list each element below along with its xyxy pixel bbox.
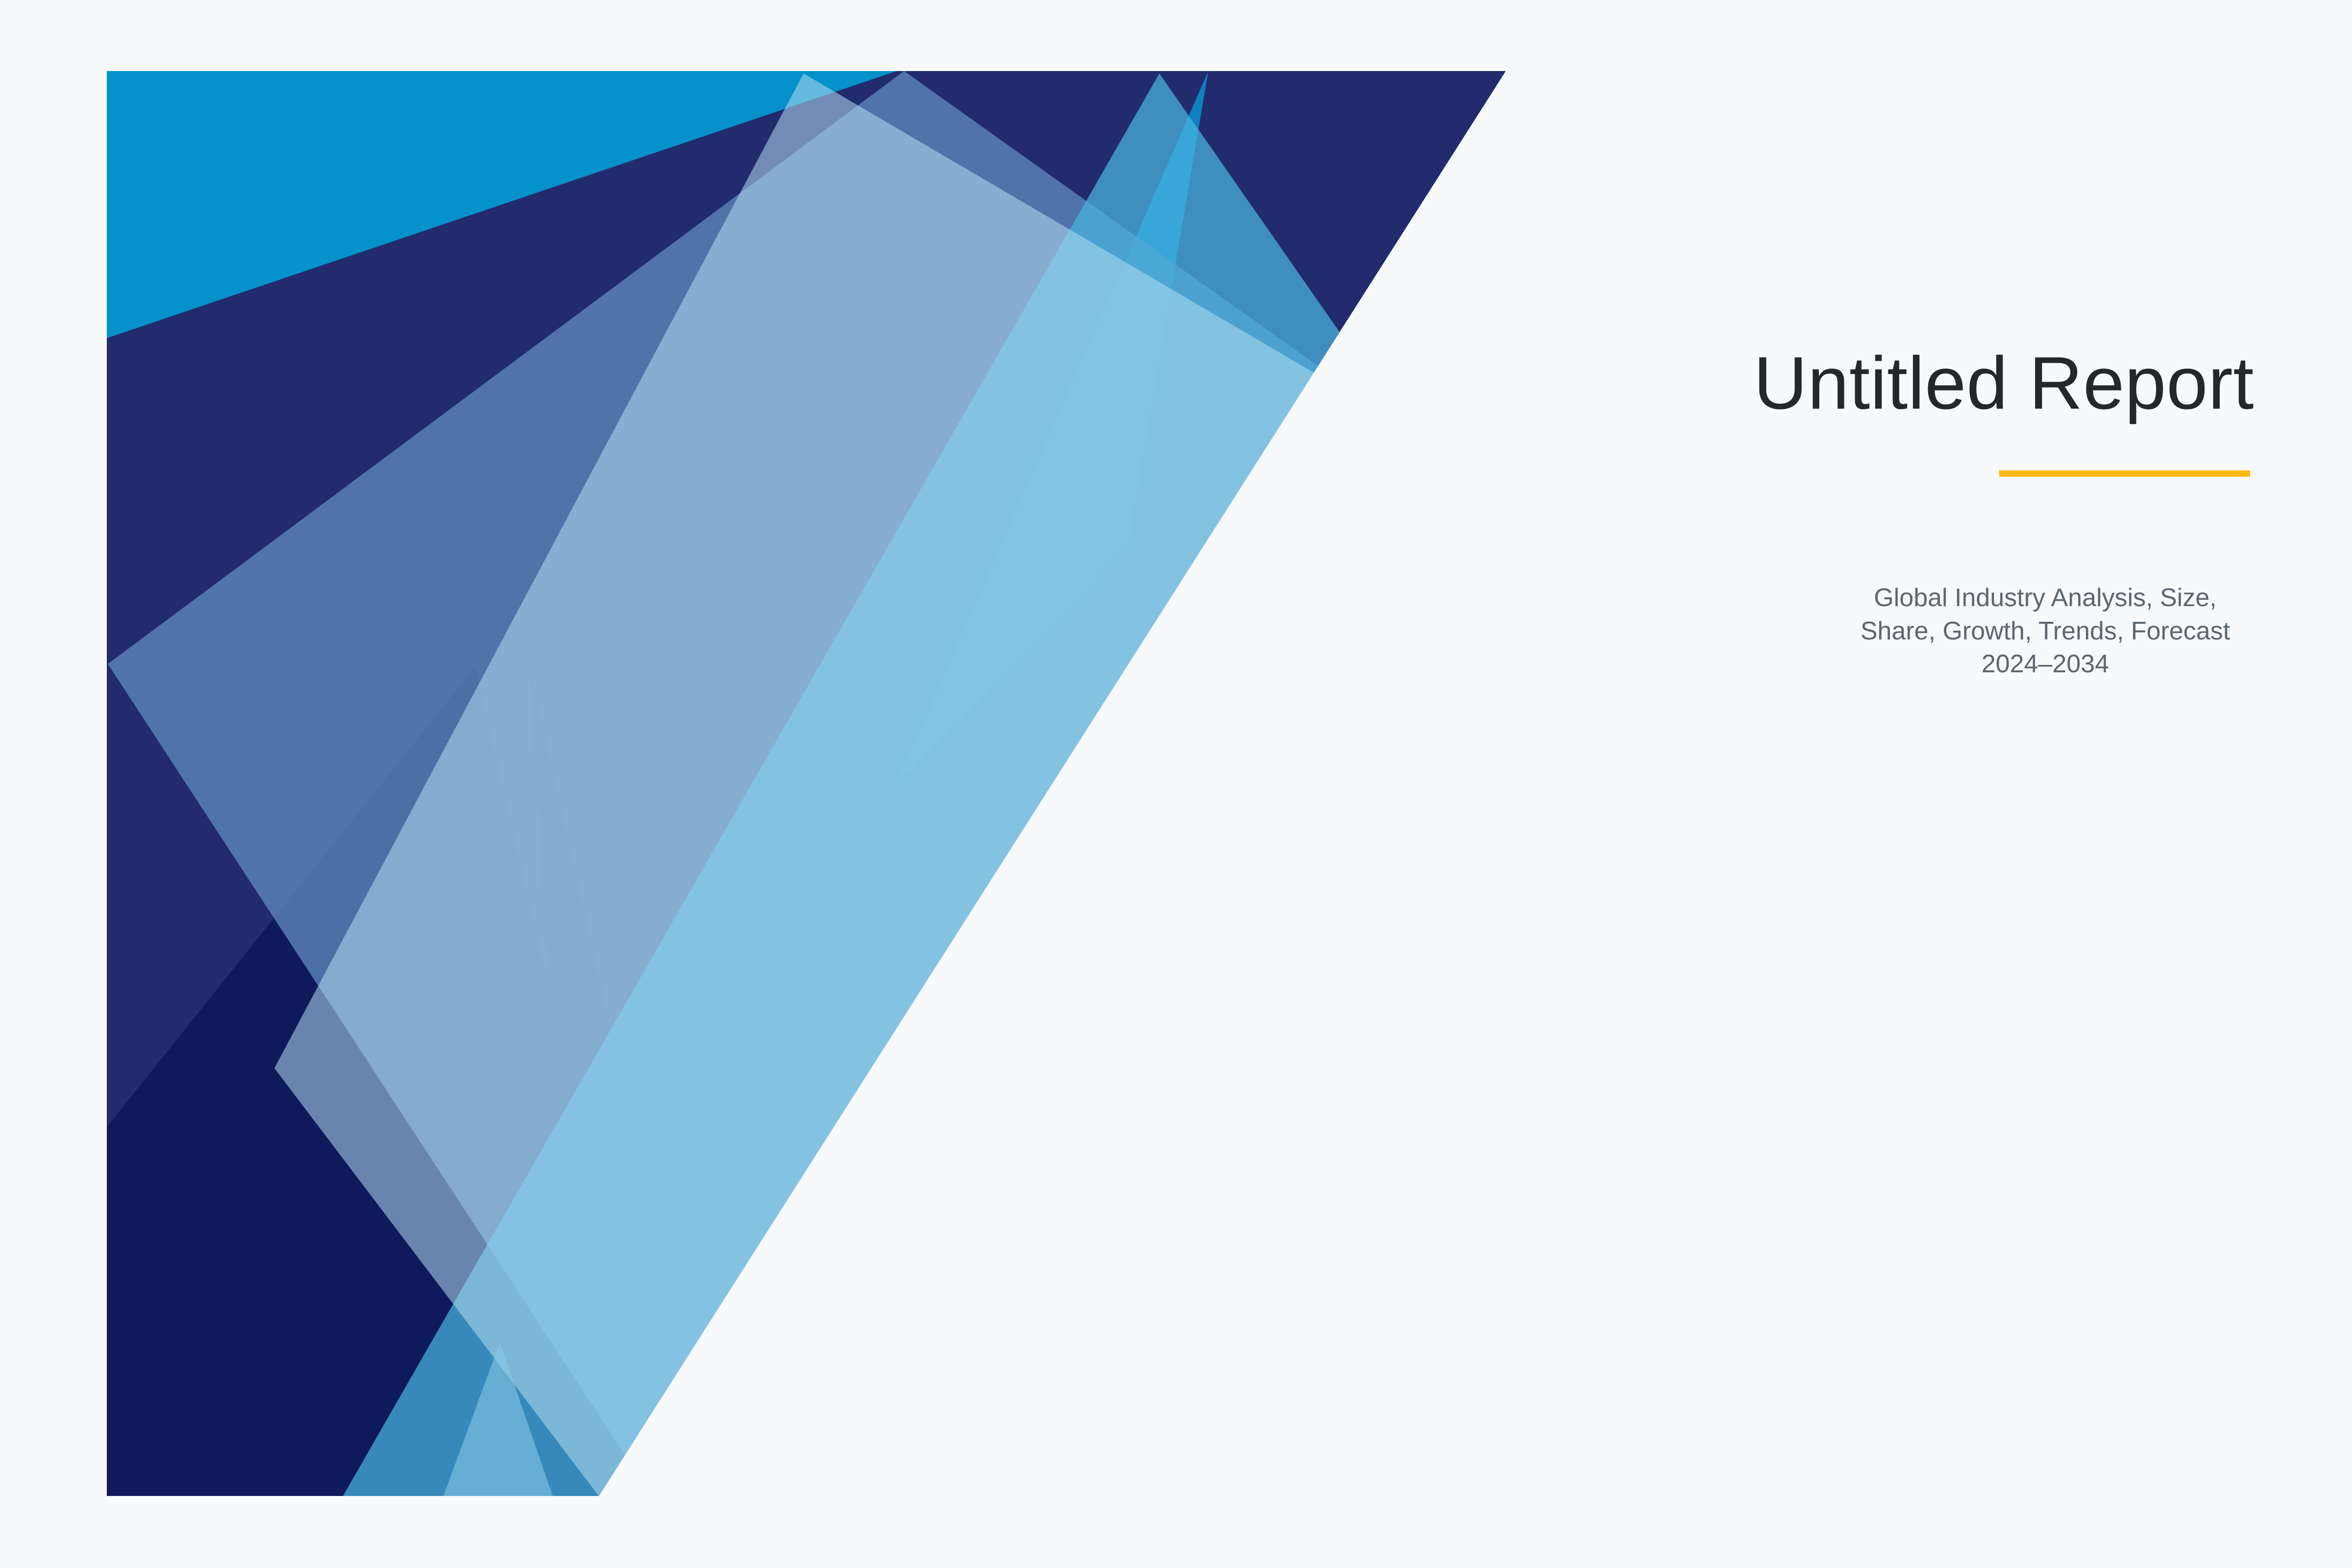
geometric-artwork-svg [0, 0, 1568, 1568]
accent-rule [1999, 470, 2250, 477]
page-title: Untitled Report [1558, 343, 2254, 423]
report-cover-page: Untitled Report Global Industry Analysis… [0, 0, 2352, 1568]
cover-artwork [0, 0, 1568, 1568]
page-subtitle: Global Industry Analysis, Size, Share, G… [1840, 582, 2250, 681]
cover-text-column: Untitled Report Global Industry Analysis… [1558, 343, 2254, 681]
